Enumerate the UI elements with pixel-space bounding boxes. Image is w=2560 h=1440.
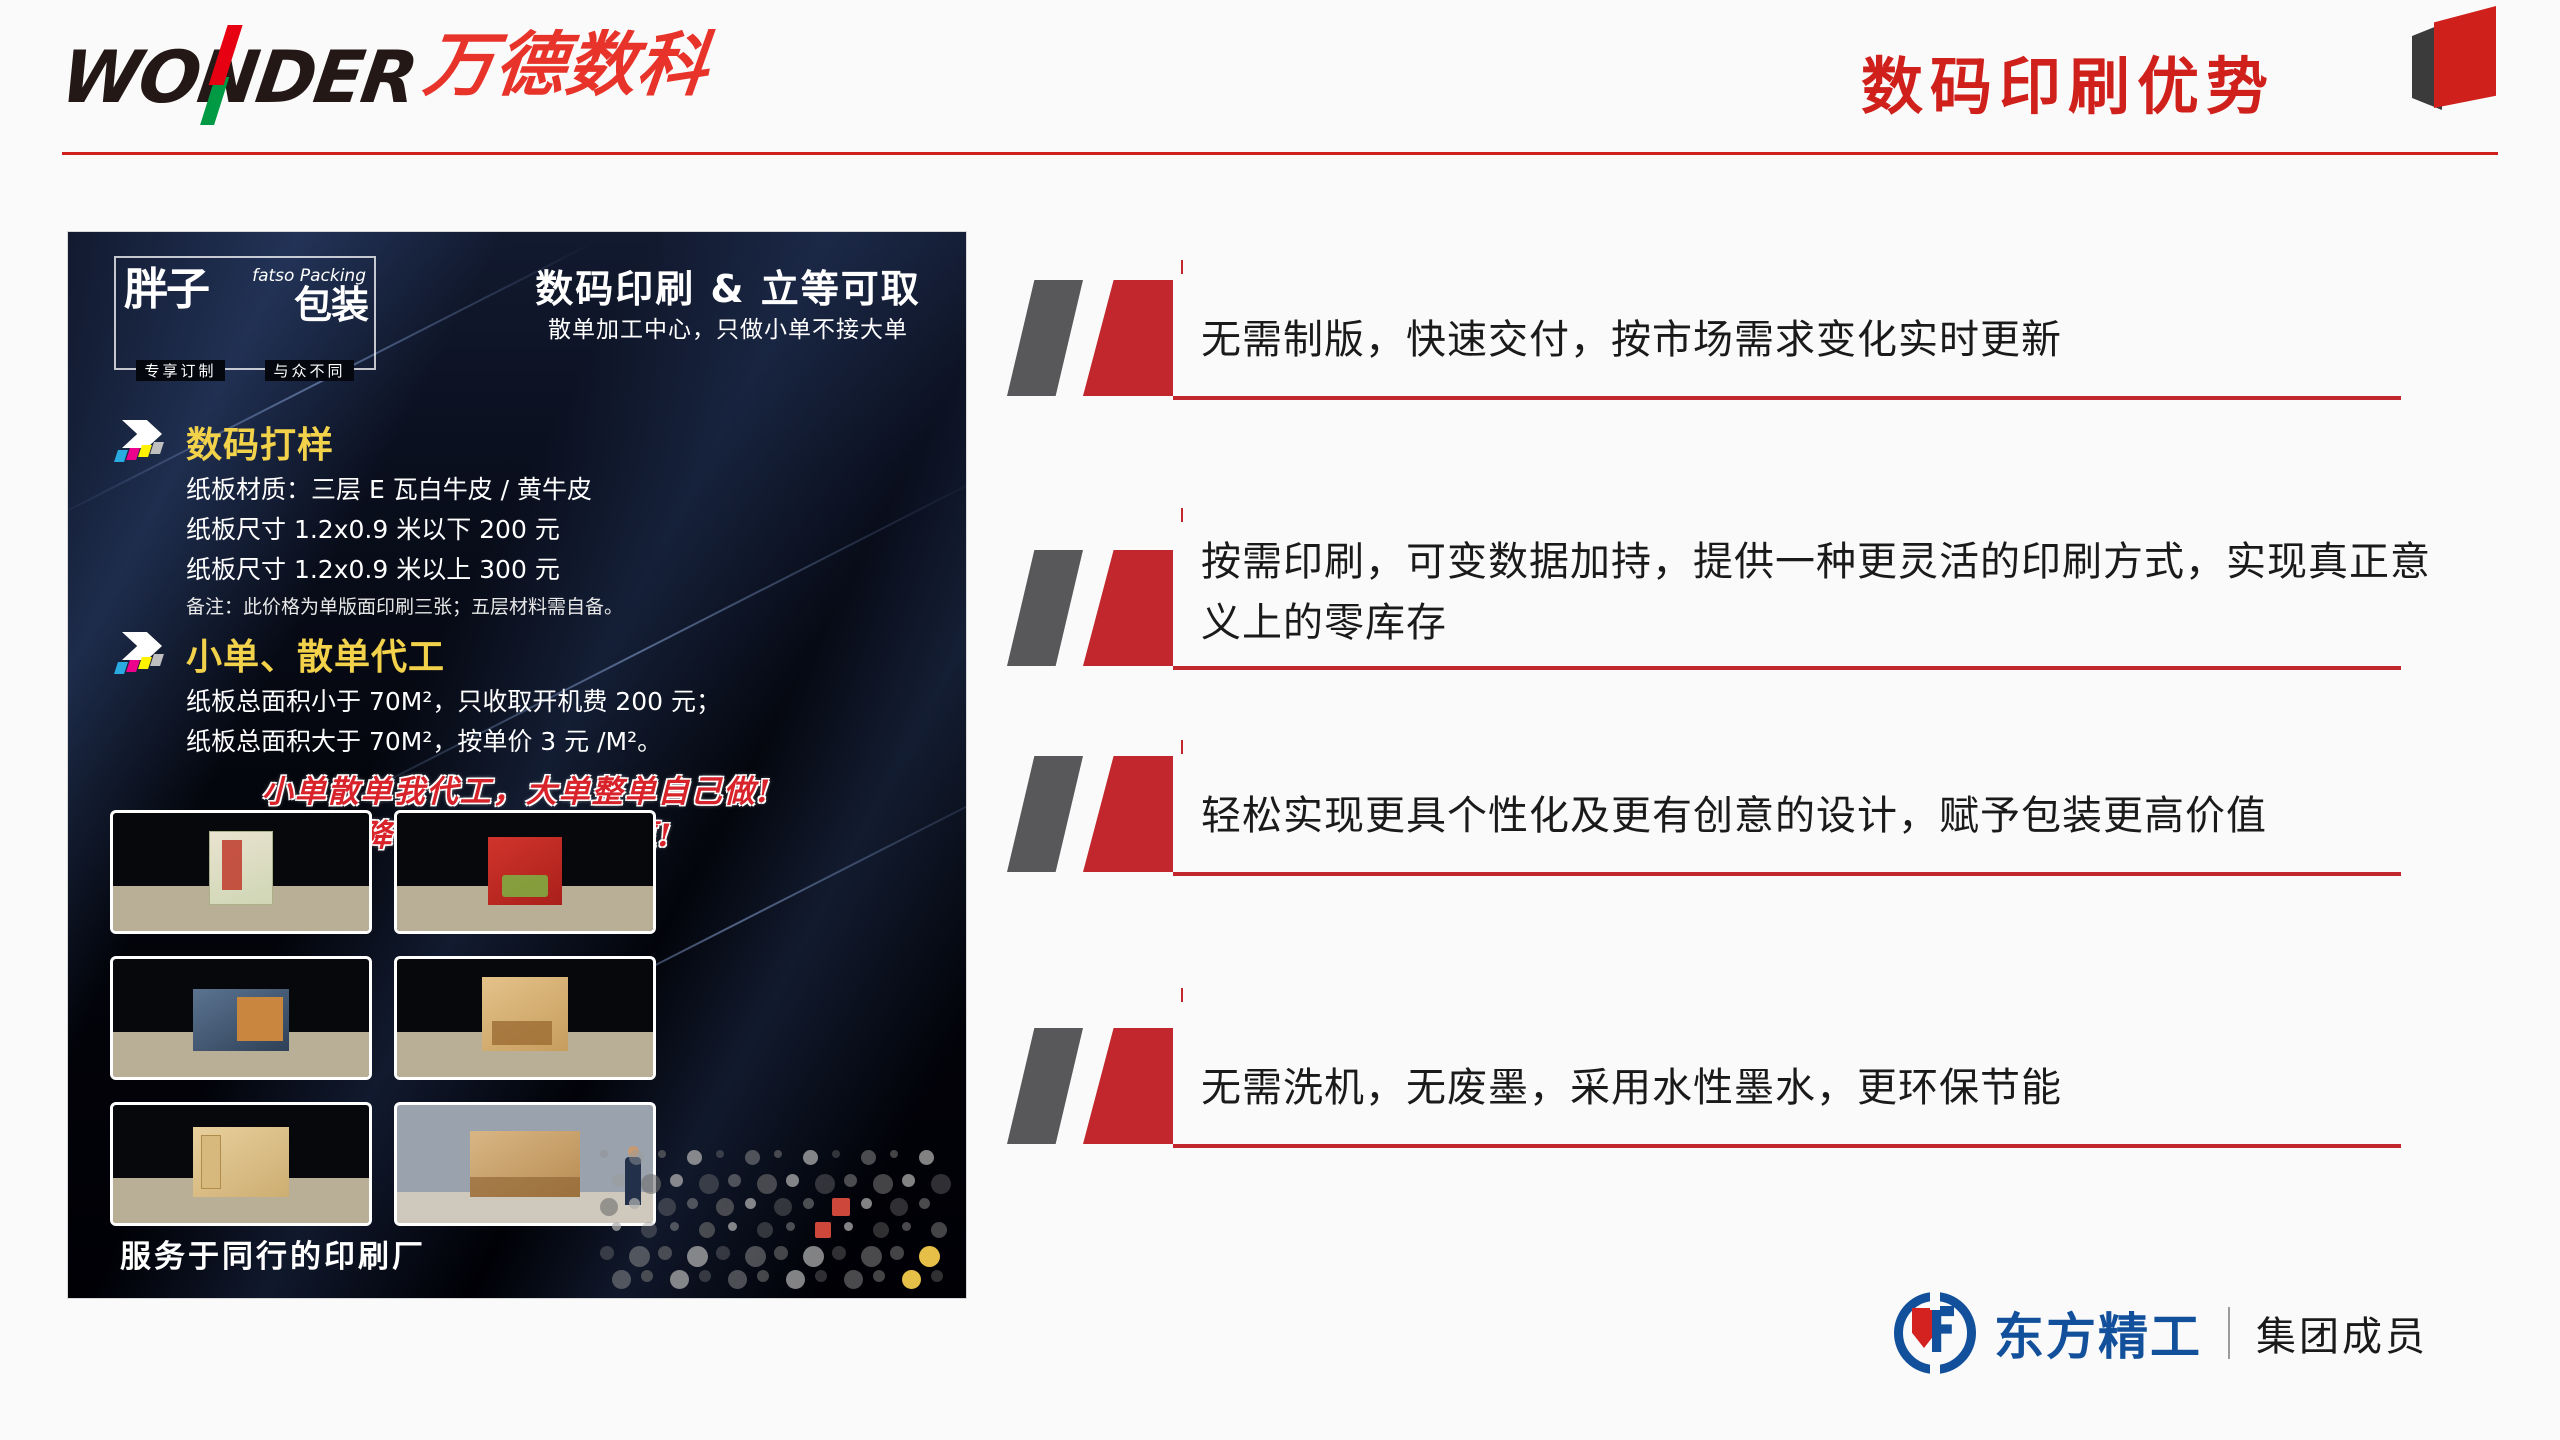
- halftone-dot: [745, 1198, 756, 1209]
- product-box-mural: [470, 1131, 580, 1197]
- halftone-dot: [658, 1150, 666, 1158]
- chevron-arrow-icon: [114, 418, 172, 464]
- product-box-kraft: [482, 977, 568, 1051]
- bullet-marker-red: [1083, 280, 1173, 396]
- halftone-dot: [641, 1222, 657, 1238]
- cmyk-dot-gray: [150, 442, 164, 454]
- poster-slogan-line-1: 小单散单我代工，大单整单自己做!: [68, 766, 966, 811]
- product-box-honey: [209, 831, 273, 905]
- halftone-dot: [844, 1222, 853, 1231]
- halftone-dot: [919, 1246, 940, 1267]
- halftone-dot: [873, 1222, 889, 1238]
- bullet-marker: [1005, 756, 1180, 872]
- halftone-dot: [687, 1198, 698, 1209]
- halftone-dot: [629, 1150, 644, 1165]
- halftone-dot: [687, 1150, 702, 1165]
- advantage-item: 无需制版，快速交付，按市场需求变化实时更新: [1005, 272, 2495, 512]
- halftone-dot: [658, 1198, 676, 1216]
- halftone-dot: [815, 1270, 827, 1282]
- advantage-underline: [1173, 872, 2401, 876]
- halftone-dot-decoration: [600, 1144, 960, 1294]
- advantage-item: 轻松实现更具个性化及更有创意的设计，赋予包装更高价值: [1005, 752, 2495, 992]
- fatso-logo: 胖子 fatso Packing 包装 专享订制 与众不同: [114, 256, 376, 370]
- halftone-dot: [861, 1198, 872, 1209]
- halftone-dot: [786, 1270, 805, 1289]
- halftone-dot: [803, 1150, 818, 1165]
- halftone-dot: [716, 1246, 730, 1260]
- halftone-dot: [919, 1150, 934, 1165]
- promo-poster-image: 胖子 fatso Packing 包装 专享订制 与众不同 数码印刷 & 立等可…: [68, 232, 966, 1298]
- advantages-list: 无需制版，快速交付，按市场需求变化实时更新 按需印刷，可变数据加持，提供一种更灵…: [1005, 272, 2495, 1232]
- section-title-2: 小单、散单代工: [186, 628, 445, 680]
- cmyk-dot-cyan: [114, 450, 128, 462]
- product-photo: [110, 956, 372, 1080]
- footer-member-label: 集团成员: [2256, 1304, 2428, 1362]
- dongfang-emblem-icon: [1894, 1292, 1976, 1374]
- poster-footer-text: 服务于同行的印刷厂: [120, 1231, 426, 1276]
- bullet-marker-gray: [1007, 550, 1083, 666]
- advantage-underline: [1173, 666, 2401, 670]
- halftone-dot: [745, 1150, 760, 1165]
- halftone-dot: [890, 1198, 908, 1216]
- bullet-marker: [1005, 280, 1180, 396]
- bullet-marker: [1005, 550, 1180, 666]
- halftone-dot: [728, 1174, 741, 1187]
- halftone-dot: [890, 1150, 898, 1158]
- halftone-dot: [890, 1246, 904, 1260]
- halftone-dot: [815, 1174, 835, 1194]
- company-logo: WONDER 万德数科: [62, 38, 709, 110]
- halftone-dot: [670, 1174, 683, 1187]
- poster-headline: 数码印刷 & 立等可取: [508, 258, 948, 313]
- fatso-sub-left: 专享订制: [136, 360, 224, 381]
- advantage-text: 轻松实现更具个性化及更有创意的设计，赋予包装更高价值: [1201, 786, 2441, 847]
- wonder-wordmark: WONDER: [57, 45, 419, 110]
- halftone-dot: [728, 1222, 737, 1231]
- section-2-line-1: 纸板总面积小于 70M²，只收取开机费 200 元；: [186, 682, 721, 718]
- halftone-dot: [815, 1222, 831, 1238]
- halftone-dot: [832, 1150, 840, 1158]
- bullet-marker-red: [1083, 756, 1173, 872]
- halftone-dot: [931, 1222, 947, 1238]
- wonder-chinese-name: 万德数科: [420, 9, 715, 110]
- advantage-underline: [1173, 1144, 2401, 1148]
- halftone-dot: [774, 1198, 792, 1216]
- bullet-tick: [1181, 260, 1183, 274]
- product-photo: [394, 810, 656, 934]
- bullet-marker-red: [1083, 550, 1173, 666]
- halftone-dot: [600, 1246, 614, 1260]
- fatso-logo-cn2: 包装: [294, 286, 368, 324]
- slide-root: WONDER 万德数科 数码印刷优势 胖子 fatso Packing 包装 专…: [0, 0, 2560, 1440]
- product-photo: [394, 956, 656, 1080]
- product-box-gold: [193, 1127, 289, 1197]
- wonder-part-1: WO: [56, 35, 204, 119]
- halftone-dot: [861, 1246, 882, 1267]
- advantage-text: 按需印刷，可变数据加持，提供一种更灵活的印刷方式，实现真正意义上的零库存: [1201, 532, 2441, 654]
- fatso-sub-right: 与众不同: [265, 360, 353, 381]
- halftone-dot: [612, 1222, 621, 1231]
- halftone-dot: [600, 1198, 618, 1216]
- bullet-tick: [1181, 988, 1183, 1002]
- halftone-dot: [670, 1222, 679, 1231]
- halftone-dot: [629, 1198, 640, 1209]
- emblem-top-notch: [1930, 1288, 1940, 1310]
- halftone-dot: [757, 1174, 777, 1194]
- halftone-dot: [716, 1198, 734, 1216]
- poster-subheadline: 散单加工中心，只做小单不接大单: [508, 310, 948, 344]
- halftone-dot: [803, 1246, 824, 1267]
- halftone-dot: [670, 1270, 689, 1289]
- wonder-n-accent: N: [194, 45, 261, 110]
- halftone-dot: [844, 1174, 857, 1187]
- group-member-footer: 东方精工 集团成员: [1894, 1292, 2428, 1374]
- halftone-dot: [641, 1174, 661, 1194]
- halftone-dot: [612, 1174, 625, 1187]
- halftone-dot: [902, 1270, 921, 1289]
- halftone-dot: [902, 1174, 915, 1187]
- bullet-marker-gray: [1007, 1028, 1083, 1144]
- page-title: 数码印刷优势: [1861, 36, 2275, 126]
- section-1-line-2: 纸板尺寸 1.2x0.9 米以下 200 元: [186, 510, 560, 546]
- halftone-dot: [699, 1222, 715, 1238]
- header-divider: [62, 152, 2498, 155]
- cmyk-dot-gray: [150, 654, 164, 666]
- halftone-dot: [873, 1174, 893, 1194]
- halftone-dot: [641, 1270, 653, 1282]
- product-photo: [110, 1102, 372, 1226]
- halftone-dot: [832, 1198, 850, 1216]
- advantage-item: 按需印刷，可变数据加持，提供一种更灵活的印刷方式，实现真正意义上的零库存: [1005, 512, 2495, 752]
- product-box-red: [488, 837, 562, 905]
- halftone-dot: [803, 1198, 814, 1209]
- section-1-line-3: 纸板尺寸 1.2x0.9 米以上 300 元: [186, 550, 560, 586]
- halftone-dot: [629, 1246, 650, 1267]
- advantage-text: 无需洗机，无废墨，采用水性墨水，更环保节能: [1201, 1058, 2441, 1119]
- halftone-dot: [902, 1222, 911, 1231]
- product-box-blue: [193, 989, 289, 1051]
- bullet-marker: [1005, 1028, 1180, 1144]
- fatso-logo-cn: 胖子: [124, 268, 208, 312]
- halftone-dot: [687, 1246, 708, 1267]
- halftone-dot: [699, 1174, 719, 1194]
- halftone-dot: [658, 1246, 672, 1260]
- halftone-dot: [699, 1270, 711, 1282]
- bullet-tick: [1181, 740, 1183, 754]
- halftone-dot: [919, 1198, 930, 1209]
- halftone-dot: [931, 1270, 943, 1282]
- advantage-item: 无需洗机，无废墨，采用水性墨水，更环保节能: [1005, 992, 2495, 1232]
- wonder-part-2: DER: [251, 35, 421, 119]
- halftone-dot: [832, 1246, 846, 1260]
- footer-divider: [2228, 1307, 2230, 1359]
- halftone-dot: [844, 1270, 863, 1289]
- bullet-marker-gray: [1007, 280, 1083, 396]
- halftone-dot: [786, 1222, 795, 1231]
- halftone-dot: [774, 1246, 788, 1260]
- advantage-text: 无需制版，快速交付，按市场需求变化实时更新: [1201, 310, 2441, 371]
- halftone-dot: [774, 1150, 782, 1158]
- bullet-tick: [1181, 508, 1183, 522]
- halftone-dot: [600, 1150, 608, 1158]
- corner-red-panel: [2434, 6, 2496, 108]
- bullet-marker-gray: [1007, 756, 1083, 872]
- halftone-dot: [745, 1246, 766, 1267]
- chevron-arrow-icon: [114, 630, 172, 676]
- halftone-dot: [861, 1150, 876, 1165]
- fatso-logo-subtitles: 专享订制 与众不同: [116, 360, 374, 381]
- halftone-dot: [786, 1174, 799, 1187]
- halftone-dot: [757, 1270, 769, 1282]
- halftone-dot: [716, 1150, 724, 1158]
- halftone-dot: [757, 1222, 773, 1238]
- section-1-note: 备注：此价格为单版面印刷三张；五层材料需自备。: [186, 592, 623, 619]
- halftone-dot: [612, 1270, 631, 1289]
- bullet-marker-red: [1083, 1028, 1173, 1144]
- section-2-line-2: 纸板总面积大于 70M²，按单价 3 元 /M²。: [186, 722, 662, 758]
- section-1-line-1: 纸板材质：三层 E 瓦白牛皮 / 黄牛皮: [186, 470, 592, 506]
- product-photo: [110, 810, 372, 934]
- halftone-dot: [931, 1174, 951, 1194]
- cmyk-dot-cyan: [114, 662, 128, 674]
- advantage-underline: [1173, 396, 2401, 400]
- halftone-dot: [873, 1270, 885, 1282]
- halftone-dot: [728, 1270, 747, 1289]
- emblem-bottom-notch: [1930, 1356, 1940, 1378]
- section-title-1: 数码打样: [186, 416, 334, 468]
- corner-book-decoration: [2390, 0, 2510, 115]
- footer-company-name: 东方精工: [1994, 1297, 2202, 1369]
